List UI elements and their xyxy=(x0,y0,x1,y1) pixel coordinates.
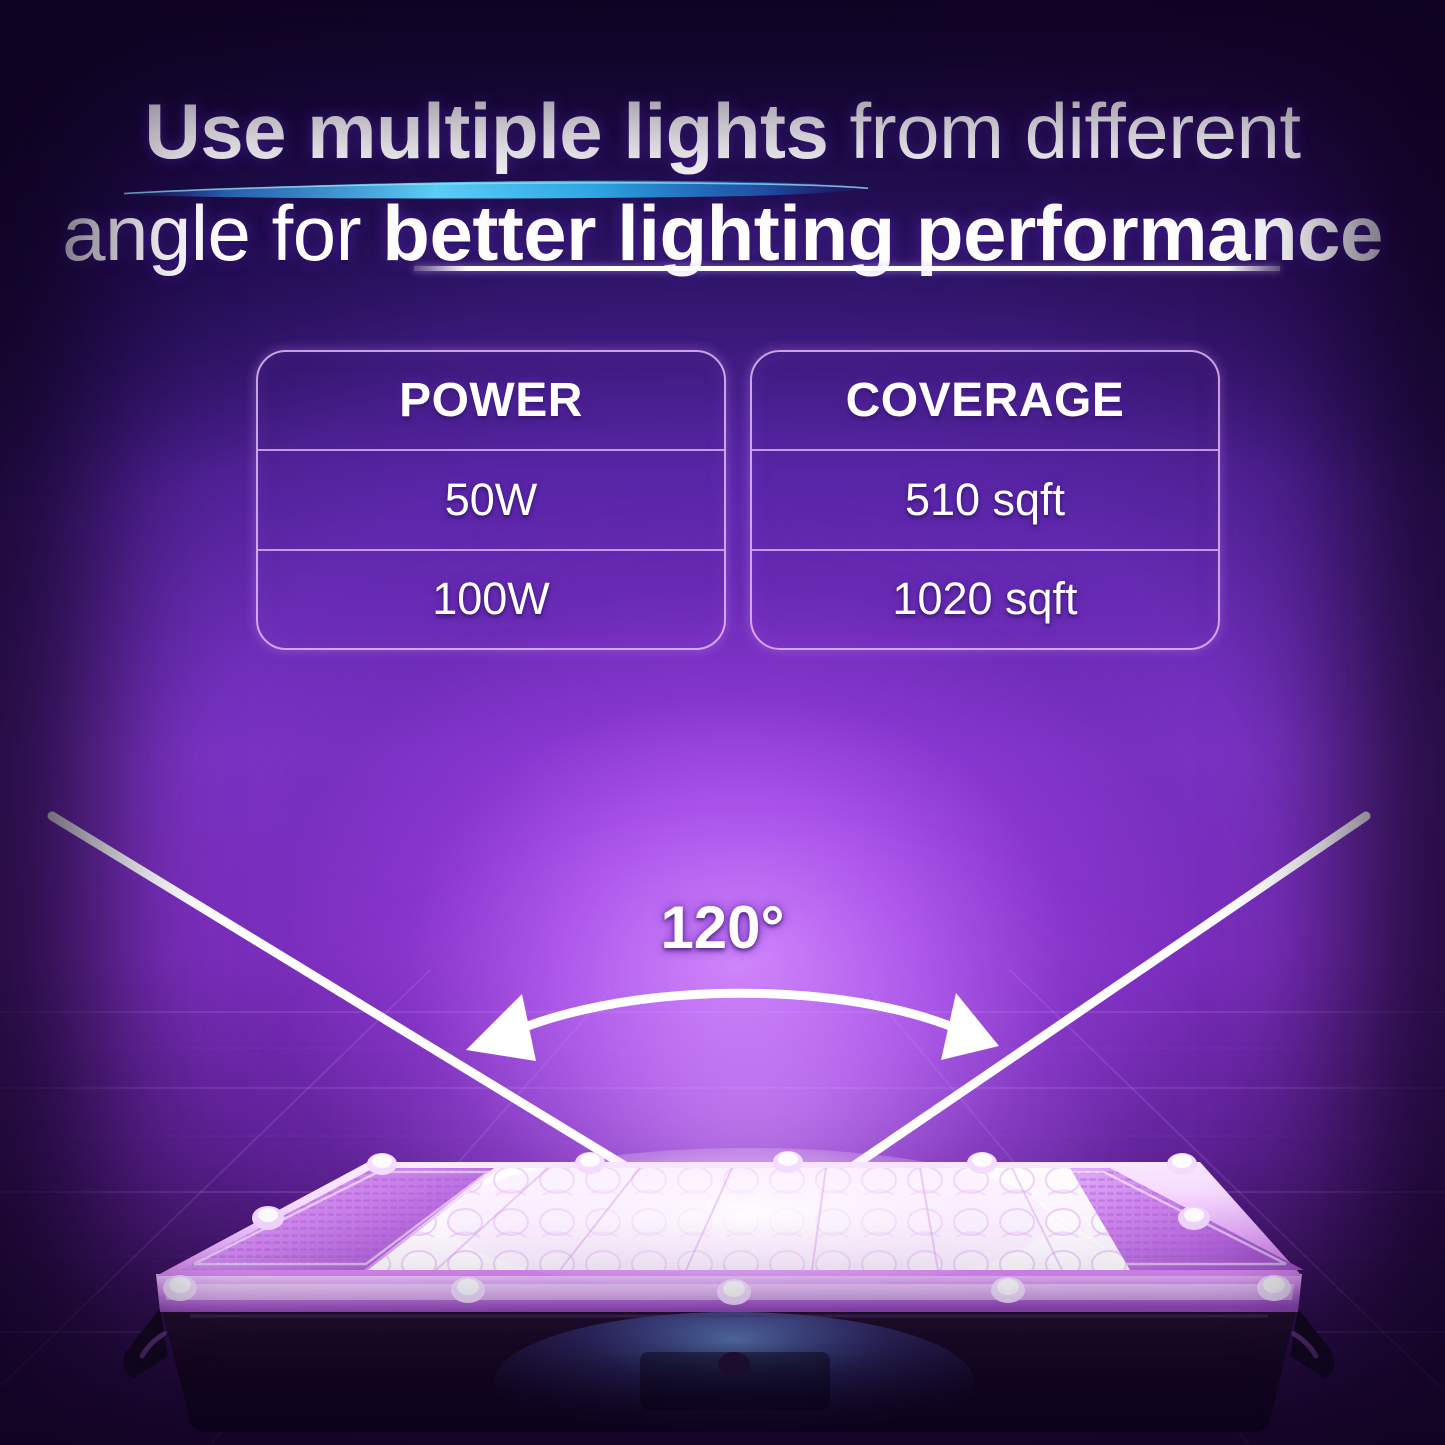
spec-value-coverage-1: 1020 sqft xyxy=(752,549,1218,648)
spec-value-power-1: 100W xyxy=(258,549,724,648)
product-feature-banner: Use multiple lights from different angle… xyxy=(0,0,1445,1445)
spec-value-coverage-0: 510 sqft xyxy=(752,449,1218,548)
spec-value-power-0: 50W xyxy=(258,449,724,548)
spec-header-coverage: COVERAGE xyxy=(752,352,1218,449)
headline: Use multiple lights from different angle… xyxy=(0,92,1445,273)
headline-line-1: Use multiple lights from different xyxy=(0,92,1445,172)
headline-line-1-bold: Use multiple lights xyxy=(144,87,828,175)
spec-table: POWER 50W 100W COVERAGE 510 sqft 1020 sq… xyxy=(256,350,1220,650)
spec-header-power: POWER xyxy=(258,352,724,449)
headline-line-2-regular: angle for xyxy=(62,189,382,277)
spec-column-power: POWER 50W 100W xyxy=(256,350,726,650)
beam-angle-label: 120° xyxy=(0,893,1445,962)
headline-line-2: angle for better lighting performance xyxy=(0,194,1445,274)
headline-line-1-regular: from different xyxy=(828,87,1300,175)
spec-column-coverage: COVERAGE 510 sqft 1020 sqft xyxy=(750,350,1220,650)
headline-underline xyxy=(414,266,1280,271)
headline-line-2-bold: better lighting performance xyxy=(382,189,1383,277)
